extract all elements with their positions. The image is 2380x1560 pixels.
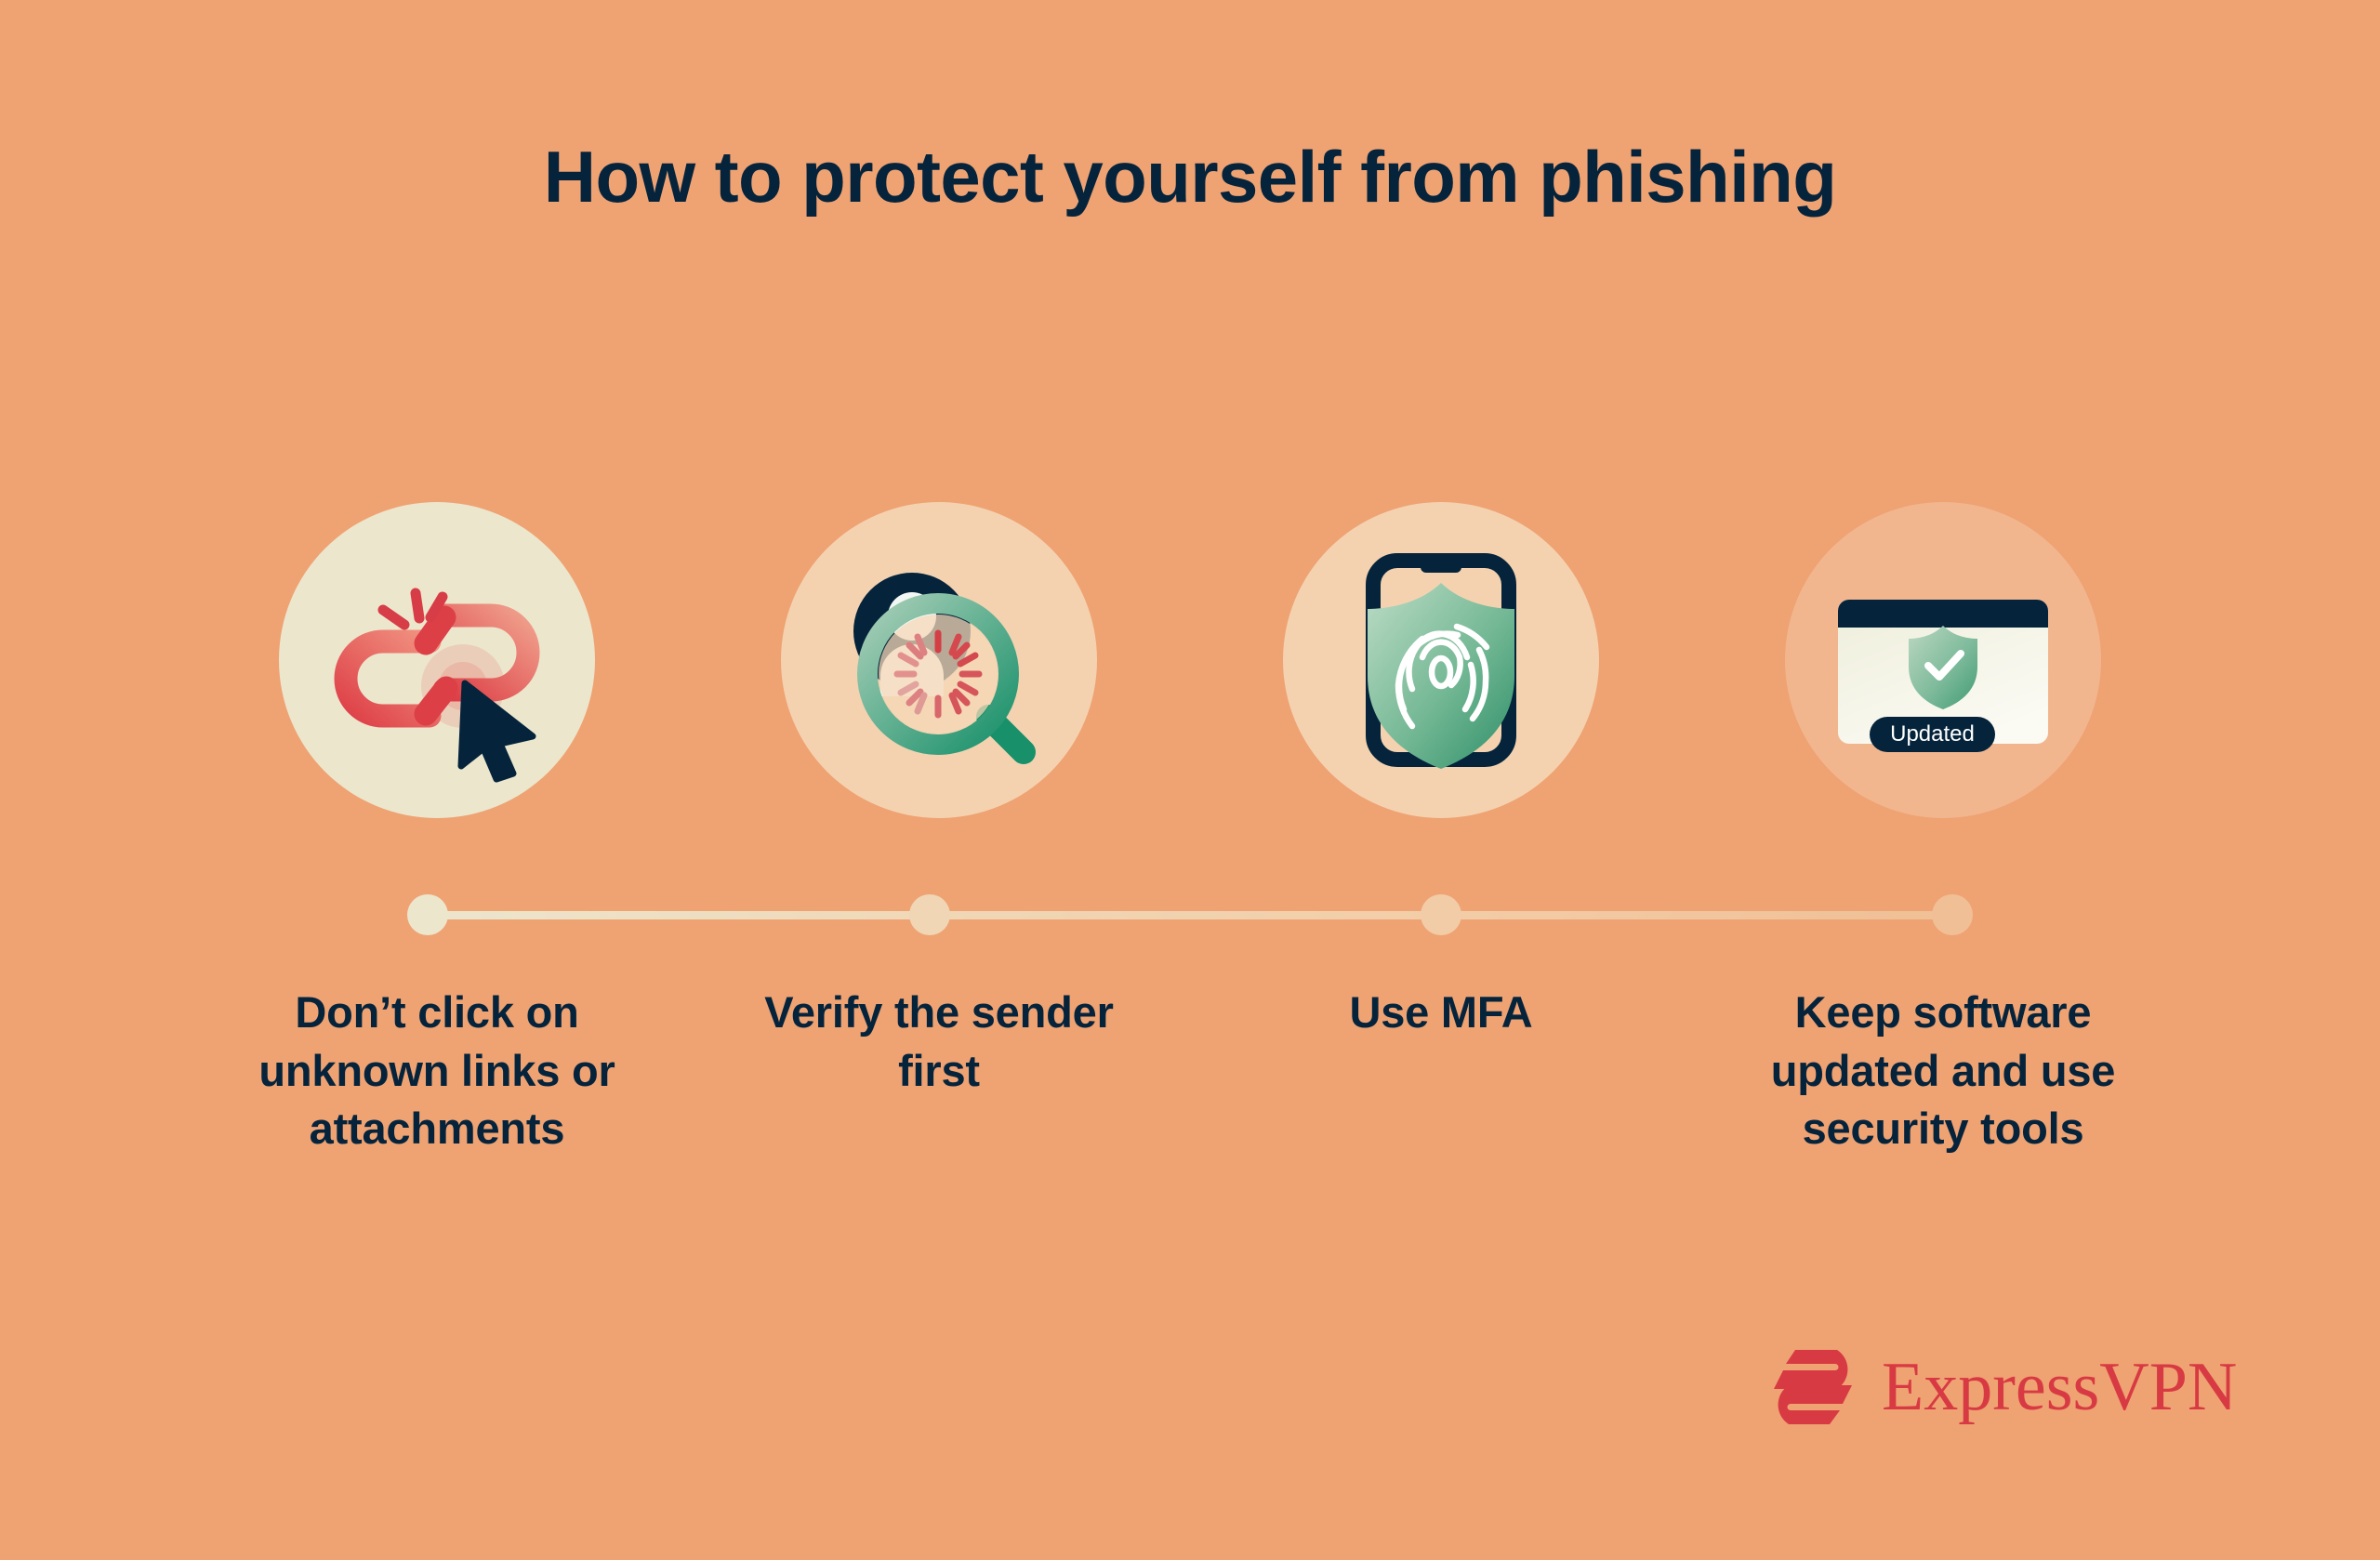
steps-label-row: Don’t click on unknown links or attachme… [186, 984, 2194, 1158]
page-title: How to protect yourself from phishing [0, 138, 2380, 216]
step-4-label: Keep software updated and use security t… [1725, 984, 2161, 1158]
expressvpn-mark-icon [1765, 1346, 1861, 1428]
phone-shield-fingerprint-icon [1316, 535, 1567, 786]
steps-icon-row: Updated [186, 502, 2194, 818]
status-badge-label: Updated [1890, 721, 1975, 747]
expressvpn-logo: ExpressVPN [1765, 1346, 2237, 1428]
step-1-label: Don’t click on unknown links or attachme… [219, 984, 654, 1158]
browser-titlebar [1838, 600, 2048, 628]
step-3-icon-circle [1283, 502, 1599, 818]
timeline-line [428, 911, 1952, 919]
broken-link-cursor-icon [316, 539, 558, 781]
expressvpn-wordmark: ExpressVPN [1882, 1353, 2237, 1421]
step-3 [1190, 502, 1692, 818]
timeline-dot-4 [1932, 894, 1973, 935]
step-3-label-cell: Use MFA [1190, 984, 1692, 1158]
shield-icon [1368, 583, 1514, 769]
step-3-label: Use MFA [1223, 984, 1659, 1042]
step-4-icon-circle: Updated [1785, 502, 2101, 818]
step-2-label: Verify the sender first [721, 984, 1157, 1100]
step-2-label-cell: Verify the sender first [688, 984, 1190, 1158]
timeline-dot-1 [407, 894, 448, 935]
step-1 [186, 502, 688, 818]
timeline-dot-2 [909, 894, 950, 935]
step-2 [688, 502, 1190, 818]
step-2-icon-circle [781, 502, 1097, 818]
step-1-icon-circle [279, 502, 595, 818]
step-4: Updated [1692, 502, 2194, 818]
timeline [186, 894, 2194, 935]
step-4-label-cell: Keep software updated and use security t… [1692, 984, 2194, 1158]
step-1-label-cell: Don’t click on unknown links or attachme… [186, 984, 688, 1158]
timeline-dot-3 [1421, 894, 1461, 935]
person-magnifier-icon [813, 535, 1064, 786]
browser-shield-updated-icon: Updated [1818, 535, 2069, 786]
